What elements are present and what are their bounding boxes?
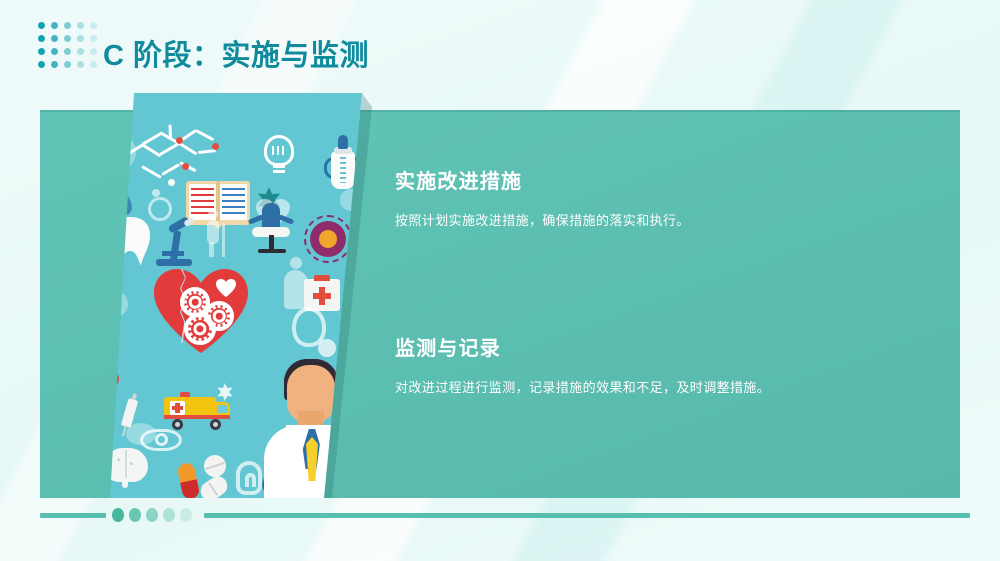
elderly-cane-icon <box>202 209 228 257</box>
wheelchair-icon <box>144 189 174 221</box>
page-title: C 阶段：实施与监测 <box>103 32 369 74</box>
pill-icon <box>204 455 226 477</box>
slide-canvas: C 阶段：实施与监测 <box>0 0 1000 561</box>
ambulance-icon <box>164 391 230 429</box>
eye-icon <box>140 429 182 451</box>
content-block-2: 监测与记录 对改进过程进行监测，记录措施的效果和不足，及时调整措施。 <box>395 332 915 396</box>
brain-icon <box>110 448 148 482</box>
footer-dots-icon <box>112 508 192 522</box>
lightbulb-icon <box>264 135 294 177</box>
content-block-1: 实施改进措施 按照计划实施改进措施，确保措施的落实和执行。 <box>395 165 915 229</box>
dot-grid-icon <box>38 22 100 71</box>
heart-with-gears-icon <box>154 261 250 353</box>
virus-icon <box>310 221 346 257</box>
footer-line-right <box>204 513 970 518</box>
pill-icon <box>197 473 231 498</box>
block-1-heading: 实施改进措施 <box>395 165 915 194</box>
footer-line-left <box>40 513 106 518</box>
block-1-body: 按照计划实施改进措施，确保措施的落实和执行。 <box>395 210 915 229</box>
slide-header: C 阶段：实施与监测 <box>0 0 1000 92</box>
slide-footer <box>0 505 1000 527</box>
stethoscope-icon <box>292 307 338 359</box>
text-column: 实施改进措施 按照计划实施改进措施，确保措施的落实和执行。 监测与记录 对改进过… <box>395 110 935 498</box>
block-2-body: 对改进过程进行监测，记录措施的效果和不足，及时调整措施。 <box>395 377 915 396</box>
molecule-icon <box>120 121 230 183</box>
block-2-heading: 监测与记录 <box>395 332 915 361</box>
ear-icon <box>236 461 262 495</box>
dental-chair-icon <box>248 203 296 255</box>
capsule-icon <box>176 462 200 498</box>
microscope-icon <box>154 219 194 267</box>
